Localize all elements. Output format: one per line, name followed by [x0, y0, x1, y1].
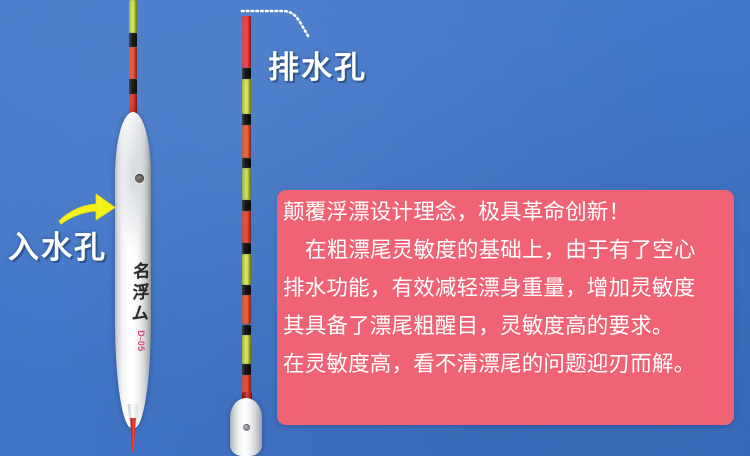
float-right-antenna-segment — [242, 79, 251, 114]
float-right-antenna-segment — [242, 254, 251, 285]
float-right-antenna-segment — [242, 211, 251, 243]
description-line-1: 颠覆浮漂设计理念，极具革命创新！ — [283, 194, 730, 232]
float-right-antenna-segment — [242, 68, 251, 79]
float-right-antenna-segment — [242, 295, 251, 324]
float-right-antenna-segment — [242, 168, 251, 200]
description-panel: 颠覆浮漂设计理念，极具革命创新！ 在粗漂尾灵敏度的基础上，由于有了空心 排水功能… — [277, 190, 734, 425]
float-right-antenna-segment — [242, 243, 251, 254]
product-image-canvas: 名浮 ム D-05 入水孔 排水孔 颠覆浮漂设计理念，极具革命创新！ 在粗漂尾灵… — [0, 0, 750, 456]
float-left-antenna-segment — [129, 47, 137, 80]
fishing-float-left: 名浮 ム D-05 — [126, 0, 140, 456]
water-inlet-hole — [135, 174, 144, 183]
float-right-striped-antenna — [242, 16, 251, 406]
float-right-antenna-segment — [242, 16, 251, 68]
float-right-antenna-segment — [242, 325, 251, 336]
float-right-antenna-segment — [242, 200, 251, 211]
float-right-antenna-segment — [242, 125, 251, 158]
water-outlet-hole — [243, 424, 250, 431]
float-right-antenna-segment — [242, 114, 251, 125]
description-line-5: 在灵敏度高，看不清漂尾的问题迎刃而解。 — [283, 346, 730, 384]
label-water-outlet: 排水孔 — [268, 42, 367, 87]
float-left-antenna — [129, 0, 137, 120]
float-right-antenna-segment — [242, 285, 251, 296]
float-left-antenna-segment — [129, 33, 137, 47]
float-right-antenna-segment — [242, 364, 251, 375]
float-left-red-tip — [130, 418, 137, 452]
description-line-3: 排水功能，有效减轻漂身重量，增加灵敏度 — [283, 270, 730, 308]
float-right-antenna-segment — [242, 158, 251, 169]
description-text: 颠覆浮漂设计理念，极具革命创新！ 在粗漂尾灵敏度的基础上，由于有了空心 排水功能… — [277, 194, 734, 384]
label-water-inlet: 入水孔 — [8, 222, 107, 267]
fishing-float-right — [239, 0, 253, 456]
float-right-antenna-segment — [242, 335, 251, 364]
float-left-antenna-segment — [129, 0, 137, 33]
description-line-2: 在粗漂尾灵敏度的基础上，由于有了空心 — [283, 232, 730, 270]
float-brand-calligraphy: 名浮 ム — [127, 261, 155, 326]
float-model-code: D-05 — [136, 329, 146, 353]
description-line-4: 其具备了漂尾粗醒目，灵敏度高的要求。 — [283, 308, 730, 346]
float-left-antenna-segment — [129, 79, 137, 94]
